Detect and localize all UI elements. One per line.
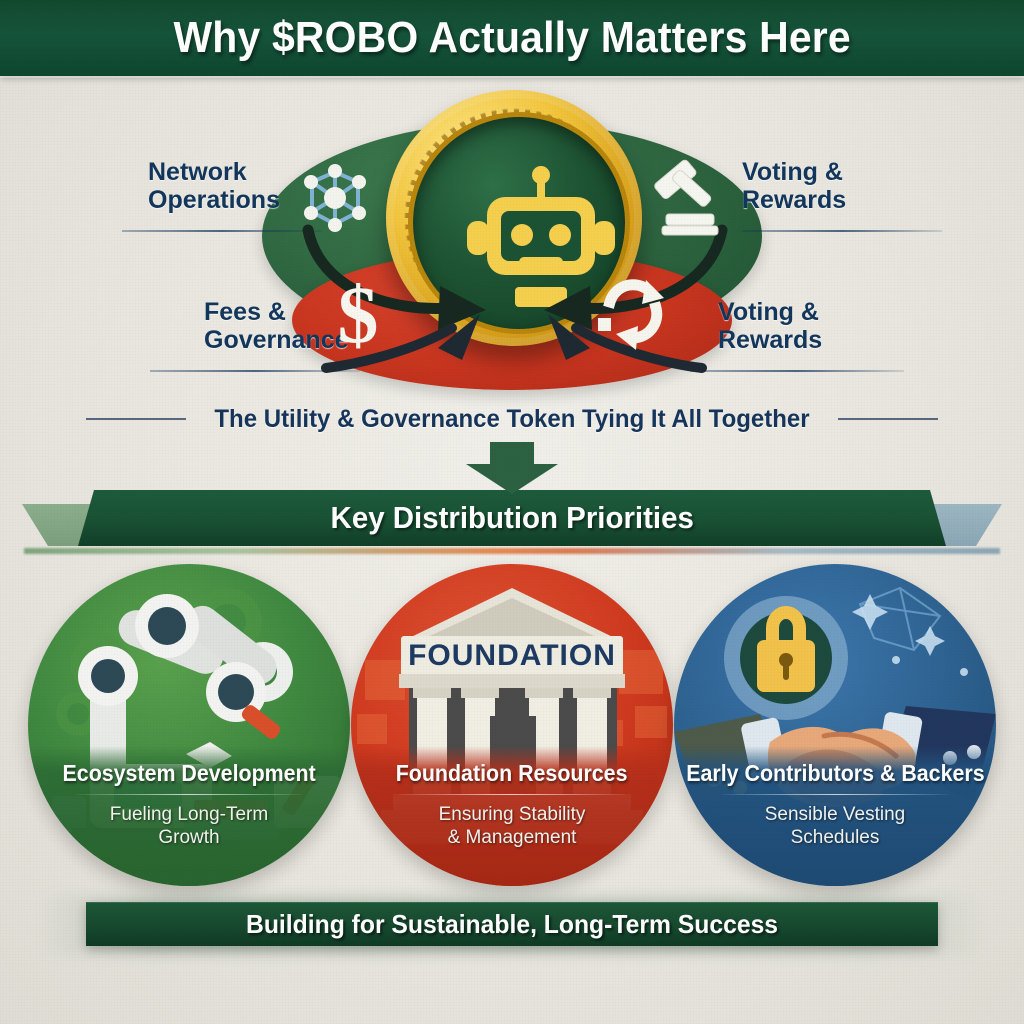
circle-1-caption: Ecosystem Development Fueling Long-Term … xyxy=(28,746,350,886)
dollar-sign-icon: $ xyxy=(320,272,396,358)
label-rule-4 xyxy=(690,370,904,372)
svg-text:$: $ xyxy=(338,272,379,358)
circle-3-subtitle: Sensible Vesting Schedules xyxy=(765,803,906,849)
label-network-operations: Network Operations xyxy=(148,158,280,214)
circle-early-contributors-backers[interactable]: Early Contributors & Backers Sensible Ve… xyxy=(674,564,996,886)
svg-text:FOUNDATION: FOUNDATION xyxy=(408,639,616,672)
banner-zone: Key Distribution Priorities xyxy=(0,486,1024,554)
circle-1-title: Ecosystem Development xyxy=(62,760,315,787)
subtitle-row: The Utility & Governance Token Tying It … xyxy=(0,398,1024,440)
label-voting-rewards-bottom: Voting & Rewards xyxy=(718,298,822,354)
circle-1-subtitle: Fueling Long-Term Growth xyxy=(110,803,268,849)
subtitle-text: The Utility & Governance Token Tying It … xyxy=(214,405,809,434)
infographic-canvas: Why $ROBO Actually Matters Here xyxy=(0,0,1024,1024)
circle-3-caption: Early Contributors & Backers Sensible Ve… xyxy=(674,746,996,886)
banner-underglow xyxy=(24,548,1000,554)
subtitle-rule-left xyxy=(86,418,186,420)
distribution-circles: Ecosystem Development Fueling Long-Term … xyxy=(0,562,1024,892)
circle-ecosystem-development[interactable]: Ecosystem Development Fueling Long-Term … xyxy=(28,564,350,886)
circle-foundation-resources[interactable]: FOUNDATION xyxy=(351,564,673,886)
header-bar: Why $ROBO Actually Matters Here xyxy=(0,0,1024,76)
section-banner: Key Distribution Priorities xyxy=(78,490,946,546)
network-nodes-icon xyxy=(292,158,378,244)
label-rule-2 xyxy=(742,230,942,232)
circle-2-title: Foundation Resources xyxy=(396,760,628,787)
circle-2-divider xyxy=(399,794,625,795)
footer-text: Building for Sustainable, Long-Term Succ… xyxy=(246,909,778,940)
circle-3-title: Early Contributors & Backers xyxy=(686,760,984,787)
down-arrow-icon xyxy=(462,442,562,494)
circle-3-divider xyxy=(722,794,948,795)
label-voting-rewards-top: Voting & Rewards xyxy=(742,158,846,214)
circle-1-divider xyxy=(76,794,302,795)
circle-2-subtitle: Ensuring Stability & Management xyxy=(439,803,586,849)
page-title: Why $ROBO Actually Matters Here xyxy=(173,13,850,63)
recycle-arrows-icon xyxy=(592,272,674,356)
footer-bar: Building for Sustainable, Long-Term Succ… xyxy=(86,902,938,946)
circle-2-caption: Foundation Resources Ensuring Stability … xyxy=(351,746,673,886)
gavel-icon xyxy=(640,152,732,244)
token-utility-diagram: $ xyxy=(0,80,1024,400)
subtitle-rule-right xyxy=(838,418,938,420)
banner-text: Key Distribution Priorities xyxy=(330,500,693,536)
